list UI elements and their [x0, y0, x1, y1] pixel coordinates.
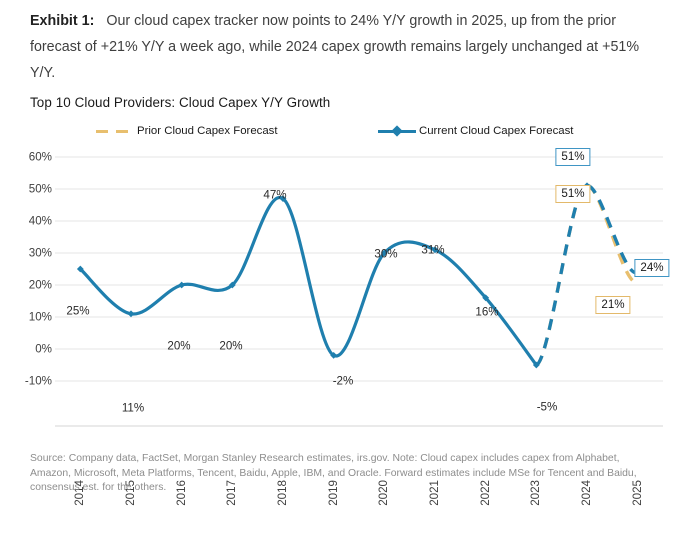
data-label-2014: 25% — [66, 305, 89, 318]
current-2025-box-label: 24% — [634, 259, 669, 277]
prior-2025-box-label: 21% — [595, 296, 630, 314]
y-tick-0: 0% — [8, 343, 52, 356]
data-label-2017: 20% — [219, 340, 242, 353]
y-tick-30: 30% — [8, 247, 52, 260]
data-label-2020: 30% — [374, 248, 397, 261]
current-forecast-solid-line — [80, 197, 536, 365]
y-axis: 60% 50% 40% 30% 20% 10% 0% -10% — [0, 145, 52, 430]
data-label-2022: 16% — [475, 306, 498, 319]
chart-legend: Prior Cloud Capex Forecast Current Cloud… — [0, 121, 675, 141]
data-label-2023: -5% — [537, 401, 558, 414]
exhibit-label: Exhibit 1: — [30, 13, 94, 29]
prior-forecast-dashed-line — [536, 185, 637, 365]
data-label-2018: 47% — [263, 189, 286, 202]
legend-item-prior-forecast[interactable]: Prior Cloud Capex Forecast — [96, 121, 278, 141]
current-forecast-dashed-line — [536, 185, 637, 365]
legend-item-current-forecast[interactable]: Current Cloud Capex Forecast — [378, 121, 573, 141]
y-tick-20: 20% — [8, 279, 52, 292]
y-tick-40: 40% — [8, 215, 52, 228]
legend-label-current: Current Cloud Capex Forecast — [419, 125, 573, 137]
y-tick-10: 10% — [8, 311, 52, 324]
data-point-2015 — [128, 310, 135, 317]
current-2024-box-label: 51% — [555, 148, 590, 166]
chart-title: Top 10 Cloud Providers: Cloud Capex Y/Y … — [30, 95, 330, 110]
data-label-2021: 31% — [421, 244, 444, 257]
data-label-2016: 20% — [167, 340, 190, 353]
y-tick-50: 50% — [8, 183, 52, 196]
plot-area: 25% 11% 20% 20% 47% -2% 30% 31% 16% -5% … — [55, 145, 663, 430]
data-point-markers — [77, 182, 641, 368]
source-footnote: Source: Company data, FactSet, Morgan St… — [30, 452, 655, 496]
current-forecast-line-swatch-icon — [378, 125, 416, 137]
data-label-2015: 11% — [122, 402, 144, 415]
prior-forecast-dashed-swatch-icon — [96, 125, 134, 137]
y-tick-neg10: -10% — [8, 375, 52, 388]
exhibit-header: Exhibit 1:Our cloud capex tracker now po… — [30, 8, 650, 86]
exhibit-description: Our cloud capex tracker now points to 24… — [30, 13, 639, 81]
y-tick-60: 60% — [8, 151, 52, 164]
legend-label-prior: Prior Cloud Capex Forecast — [137, 125, 278, 137]
chart-container: Top 10 Cloud Providers: Cloud Capex Y/Y … — [0, 95, 675, 440]
data-label-2019: -2% — [333, 375, 354, 388]
prior-2024-box-label: 51% — [555, 185, 590, 203]
